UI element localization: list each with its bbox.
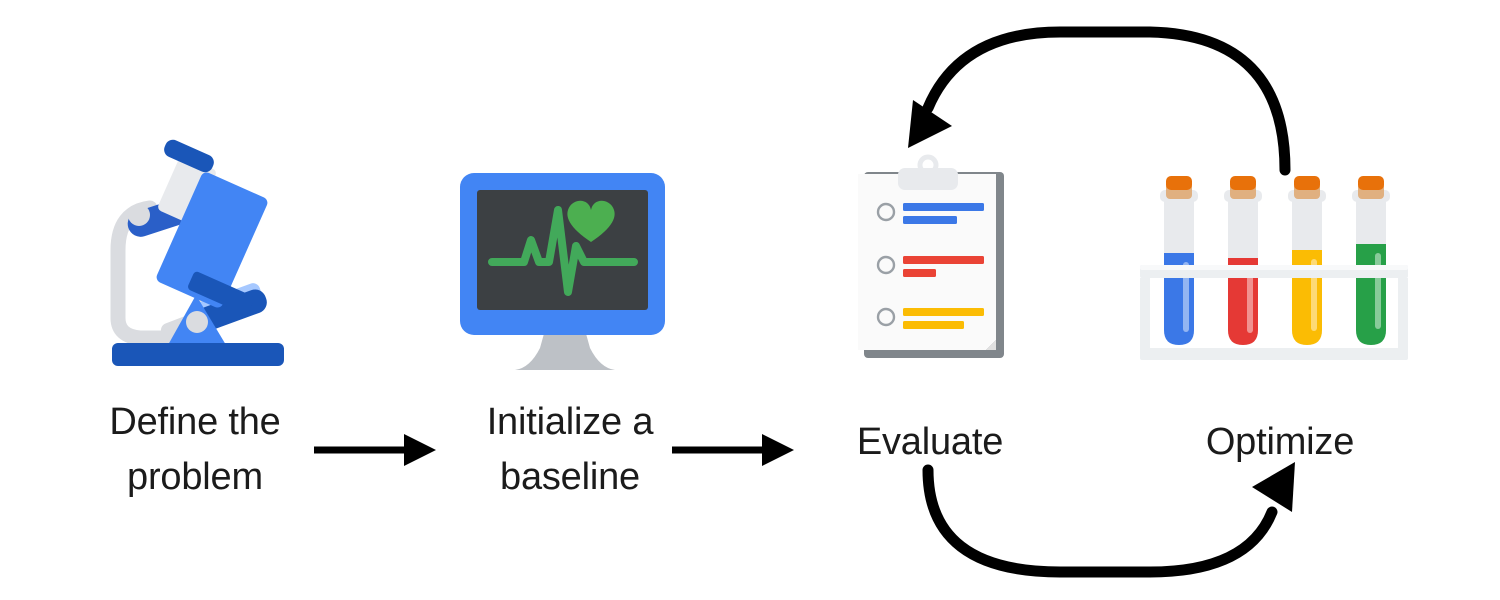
step-label-initialize-a-baseline: Initialize a baseline [430,395,710,505]
arrow-evaluate-to-optimize [928,462,1295,572]
tube-blue [1160,176,1198,345]
microscope-icon [112,137,284,366]
monitor-vitals-icon [460,173,665,370]
clipboard-checklist-icon [858,157,1004,358]
step-label-evaluate: Evaluate [800,415,1060,470]
tube-yellow [1288,176,1326,345]
tube-red [1224,176,1262,345]
workflow-diagram: Define the problem Initialize a baseline… [0,0,1500,600]
step-label-optimize: Optimize [1150,415,1410,470]
arrow-optimize-to-evaluate [908,32,1285,170]
tube-green [1352,176,1390,345]
diagram-graphics-layer [0,0,1500,600]
step-label-define-the-problem: Define the problem [55,395,335,505]
test-tubes-icon [1140,176,1408,360]
